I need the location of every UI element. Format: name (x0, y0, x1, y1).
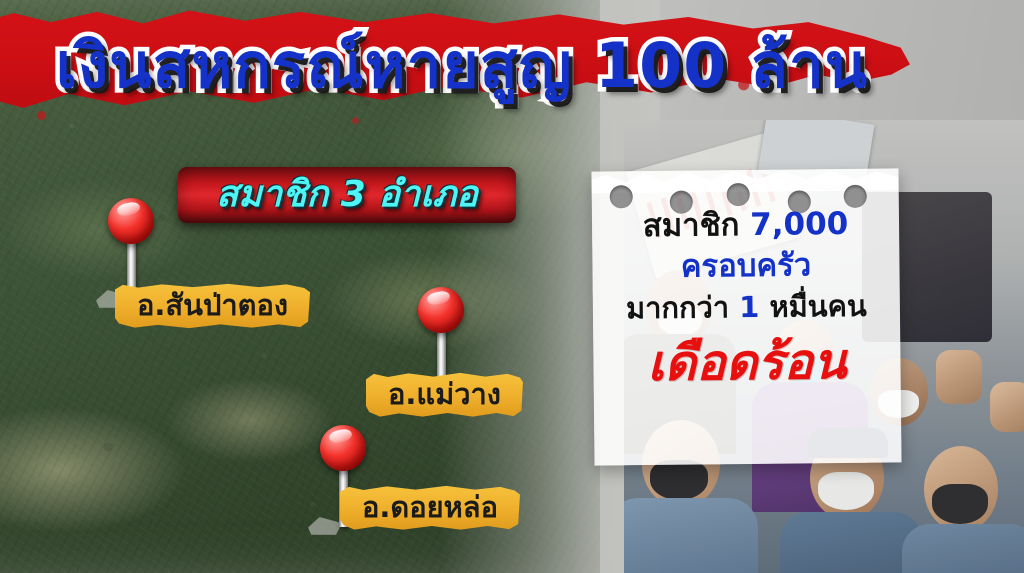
note-line-1: สมาชิก 7,000 (592, 202, 899, 247)
pin-head-icon (418, 287, 464, 333)
raised-fist (936, 350, 982, 404)
map-pin-label-text: อ.สันป่าตอง (137, 288, 288, 322)
person-body (902, 524, 1024, 573)
members-districts-label: สมาชิก 3 อำเภอ (216, 175, 478, 215)
map-pin-3[interactable] (320, 425, 366, 471)
pin-gloss-highlight (328, 428, 353, 445)
raised-fist (990, 382, 1024, 432)
face-mask (818, 472, 874, 510)
person-body (780, 512, 922, 573)
face-mask (650, 460, 708, 500)
note-line-1-prefix: สมาชิก (643, 207, 751, 244)
note-line-3-prefix: มากกว่า (626, 290, 740, 325)
members-districts-banner: สมาชิก 3 อำเภอ (178, 167, 516, 223)
note-line-3-number: 1 (739, 290, 760, 324)
note-line-1-number: 7,000 (750, 206, 848, 243)
map-pin-label-1[interactable]: อ.สันป่าตอง (115, 283, 310, 329)
face-mask (932, 484, 988, 524)
person-body (624, 498, 758, 573)
pin-gloss-highlight (426, 290, 451, 307)
info-note-paper: สมาชิก 7,000 ครอบครัว มากกว่า 1 หมื่นคน … (591, 168, 901, 465)
map-pin-label-3[interactable]: อ.ดอยหล่อ (340, 485, 520, 531)
pin-head-icon (320, 425, 366, 471)
punch-hole-icon (727, 183, 750, 206)
pin-head-icon (108, 198, 154, 244)
map-pin-label-text: อ.ดอยหล่อ (362, 490, 498, 524)
map-pin-2[interactable] (418, 287, 464, 333)
note-line-3: มากกว่า 1 หมื่นคน (593, 284, 900, 329)
pin-gloss-highlight (116, 201, 141, 218)
map-pin-label-text: อ.แม่วาง (388, 377, 501, 411)
note-line-4-highlight: เดือดร้อน (593, 330, 901, 395)
map-pin-label-2[interactable]: อ.แม่วาง (366, 372, 523, 418)
note-content: สมาชิก 7,000 ครอบครัว มากกว่า 1 หมื่นคน … (592, 202, 901, 395)
page-title: เงินสหกรณ์หายสูญ 100 ล้าน (0, 30, 924, 102)
map-pin-1[interactable] (108, 198, 154, 244)
note-line-3-suffix: หมื่นคน (759, 289, 867, 324)
note-line-2: ครอบครัว (592, 244, 899, 287)
news-graphic-canvas: เงินสหกรณ์หายสูญ 100 ล้าน สมาชิก 3 อำเภอ… (0, 0, 1024, 573)
